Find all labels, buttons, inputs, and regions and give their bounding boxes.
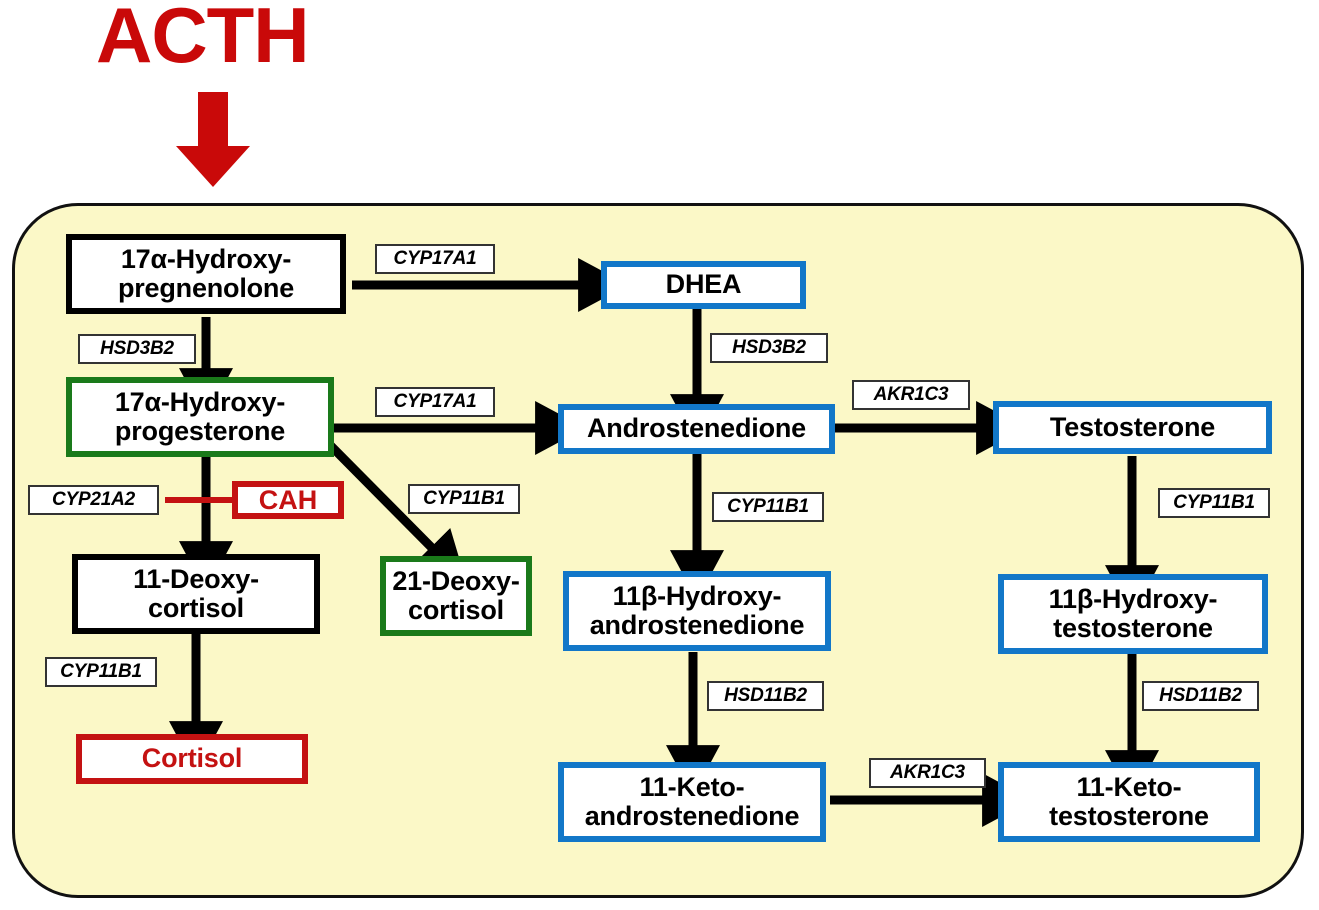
enzyme-label-cyp11b1-testosterone-to-11b-oh-testosterone[interactable]: CYP11B1 — [1158, 488, 1270, 518]
node-label: 11-Keto- testosterone — [1049, 773, 1209, 831]
enzyme-label-hsd3b2-pregnenolone-to-progesterone[interactable]: HSD3B2 — [78, 334, 196, 364]
node-label: 21-Deoxy- cortisol — [392, 567, 519, 625]
enzyme-label-cyp17a1-progesterone-to-androstenedione[interactable]: CYP17A1 — [375, 387, 495, 417]
node-line-2: testosterone — [1053, 613, 1213, 643]
acth-label: ACTH — [96, 0, 309, 74]
node-cortisol[interactable]: Cortisol — [76, 734, 308, 784]
node-line-1: 21-Deoxy- — [392, 566, 519, 596]
node-11-ketotestosterone[interactable]: 11-Keto- testosterone — [998, 762, 1260, 842]
node-line-1: 11-Keto- — [1077, 772, 1182, 802]
node-17a-hydroxypregnenolone[interactable]: 17α-Hydroxy- pregnenolone — [66, 234, 346, 314]
node-line-1: 11β-Hydroxy- — [1049, 584, 1218, 614]
node-line-2: cortisol — [148, 593, 244, 623]
enzyme-label-hsd11b2-11b-oh-androstenedione-to-11-keto[interactable]: HSD11B2 — [707, 681, 824, 711]
node-dhea[interactable]: DHEA — [601, 261, 806, 309]
node-androstenedione[interactable]: Androstenedione — [558, 404, 835, 454]
enzyme-label-cyp17a1-pregnenolone-to-dhea[interactable]: CYP17A1 — [375, 244, 495, 274]
enzyme-label-cyp11b1-deoxycortisol-to-cortisol[interactable]: CYP11B1 — [45, 657, 157, 687]
node-line-2: testosterone — [1049, 801, 1209, 831]
node-line-1: 11-Keto- — [640, 772, 745, 802]
node-testosterone[interactable]: Testosterone — [993, 401, 1272, 454]
node-line-2: progesterone — [115, 416, 285, 446]
node-line-2: androstenedione — [590, 610, 805, 640]
node-11-deoxycortisol[interactable]: 11-Deoxy- cortisol — [72, 554, 320, 634]
enzyme-label-cyp21a2-progesterone-to-deoxycortisol[interactable]: CYP21A2 — [28, 485, 159, 515]
node-11b-hydroxytestosterone[interactable]: 11β-Hydroxy- testosterone — [998, 574, 1268, 654]
node-line-1: 11-Deoxy- — [133, 564, 259, 594]
enzyme-label-akr1c3-androstenedione-to-testosterone[interactable]: AKR1C3 — [852, 380, 970, 410]
node-label: Androstenedione — [587, 414, 806, 443]
enzyme-label-cyp11b1-androstenedione-to-11b-oh-androstenedione[interactable]: CYP11B1 — [712, 492, 824, 522]
node-17a-hydroxyprogesterone[interactable]: 17α-Hydroxy- progesterone — [66, 377, 334, 457]
enzyme-label-akr1c3-11-keto-androstenedione-to-11-keto-testosterone[interactable]: AKR1C3 — [869, 758, 986, 788]
node-label: 11-Deoxy- cortisol — [133, 565, 259, 623]
cah-badge[interactable]: CAH — [232, 481, 344, 519]
node-line-2: androstenedione — [585, 801, 800, 831]
node-line-1: 17α-Hydroxy- — [121, 244, 291, 274]
node-label: 11-Keto- androstenedione — [585, 773, 800, 831]
node-label: Testosterone — [1050, 413, 1215, 442]
enzyme-label-cyp11b1-progesterone-to-21-deoxycortisol[interactable]: CYP11B1 — [408, 484, 520, 514]
node-line-2: cortisol — [408, 595, 504, 625]
enzyme-label-hsd11b2-11b-oh-testosterone-to-11-keto[interactable]: HSD11B2 — [1142, 681, 1259, 711]
node-label: Cortisol — [142, 744, 242, 773]
node-label: 17α-Hydroxy- progesterone — [115, 388, 285, 446]
node-11b-hydroxyandrostenedione[interactable]: 11β-Hydroxy- androstenedione — [563, 571, 831, 651]
node-label: 17α-Hydroxy- pregnenolone — [118, 245, 294, 303]
node-line-1: 11β-Hydroxy- — [613, 581, 782, 611]
steroidogenesis-diagram: ACTH — [0, 0, 1319, 910]
node-line-1: 17α-Hydroxy- — [115, 387, 285, 417]
enzyme-label-hsd3b2-dhea-to-androstenedione[interactable]: HSD3B2 — [710, 333, 828, 363]
acth-down-arrow-icon — [172, 92, 254, 188]
node-label: DHEA — [666, 270, 742, 299]
node-label: 11β-Hydroxy- testosterone — [1049, 585, 1218, 643]
node-11-ketoandrostenedione[interactable]: 11-Keto- androstenedione — [558, 762, 826, 842]
node-21-deoxycortisol[interactable]: 21-Deoxy- cortisol — [380, 556, 532, 636]
node-line-2: pregnenolone — [118, 273, 294, 303]
node-label: 11β-Hydroxy- androstenedione — [590, 582, 805, 640]
